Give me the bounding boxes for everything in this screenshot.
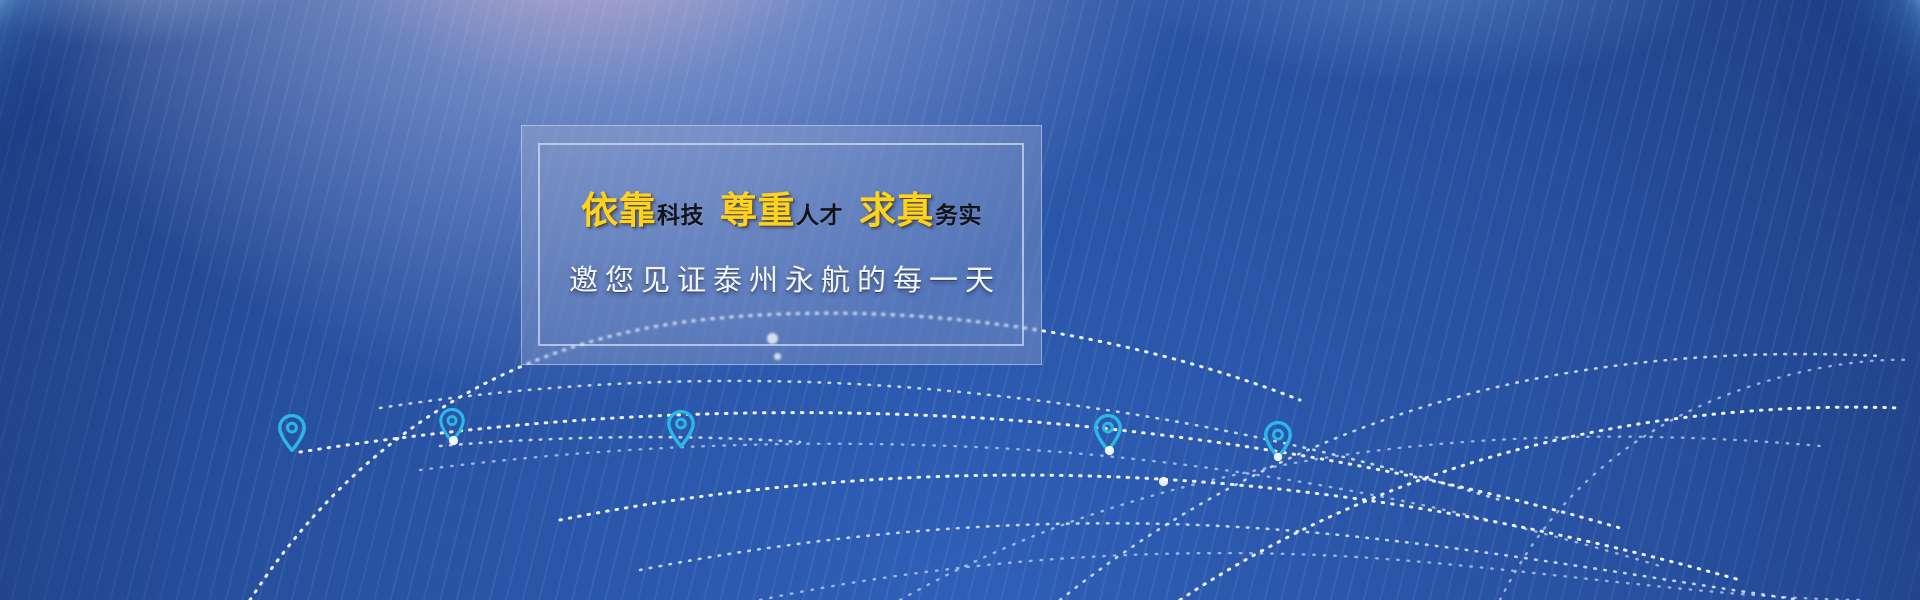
slogan-seg-2-gold: 尊重: [720, 192, 795, 229]
slogan-seg-3-dark: 务实: [935, 204, 982, 227]
slogan-content: 依靠科技尊重人才求真务实 邀您见证泰州永航的每一天: [522, 126, 1041, 364]
slogan-line-secondary: 邀您见证泰州永航的每一天: [569, 257, 1001, 299]
slogan-seg-1-dark: 科技: [657, 204, 704, 227]
slogan-seg-2-dark: 人才: [796, 204, 843, 227]
slogan-line-primary: 依靠科技尊重人才求真务实: [581, 192, 982, 229]
slogan-seg-3-gold: 求真: [859, 192, 934, 229]
slogan-seg-1-gold: 依靠: [581, 192, 656, 229]
hero-banner: .rt{fill:none;stroke:#ffffff;stroke-line…: [0, 0, 1920, 600]
slogan-panel: 依靠科技尊重人才求真务实 邀您见证泰州永航的每一天: [521, 125, 1042, 365]
